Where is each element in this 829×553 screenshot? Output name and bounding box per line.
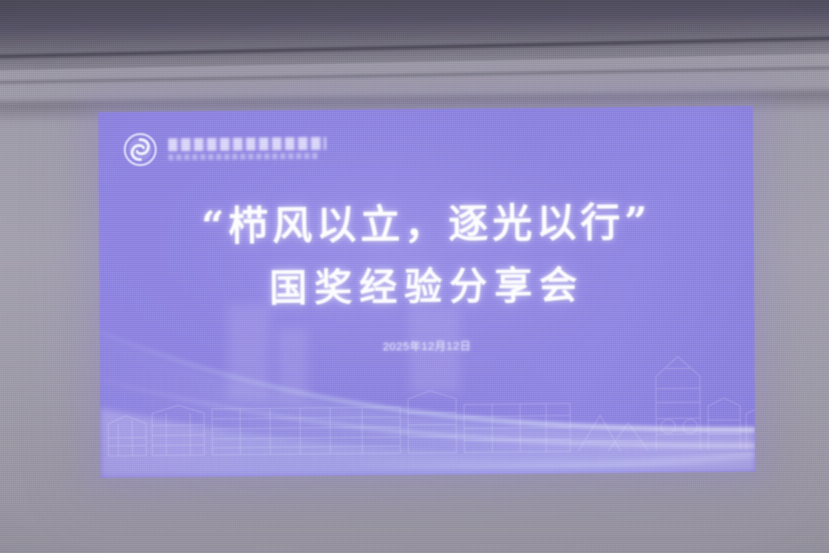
slide-title-line2: 国奖经验分享会	[99, 263, 754, 312]
organization-name-en	[168, 153, 318, 160]
projected-slide[interactable]: “栉风以立，逐光以行” 国奖经验分享会 2025年12月12日	[98, 106, 756, 478]
slide-title-line1: “栉风以立，逐光以行”	[99, 200, 754, 251]
slide-header-logo	[122, 130, 326, 168]
slide-headings: “栉风以立，逐光以行” 国奖经验分享会 2025年12月12日	[99, 200, 755, 358]
organization-name-cn	[168, 137, 326, 152]
spiral-emblem-icon	[122, 131, 158, 167]
photo-frame: “栉风以立，逐光以行” 国奖经验分享会 2025年12月12日	[0, 0, 829, 553]
organization-name	[168, 137, 326, 161]
